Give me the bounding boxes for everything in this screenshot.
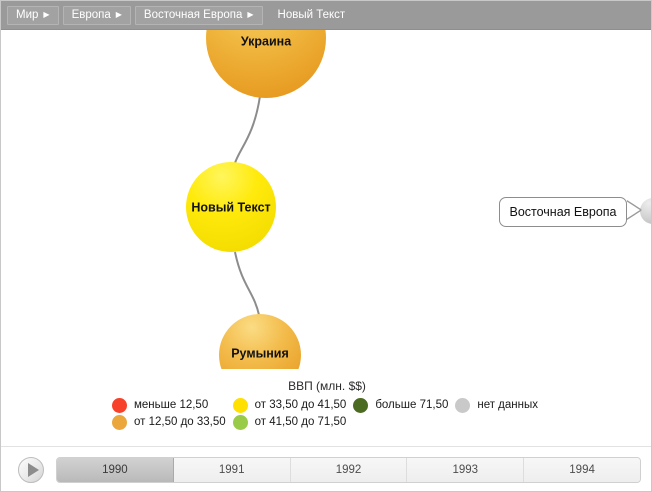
breadcrumb-item-evropa[interactable]: Европа ▶ <box>63 6 131 25</box>
play-button[interactable] <box>18 457 44 483</box>
legend-swatch-icon <box>455 398 470 413</box>
year-cell-1994[interactable]: 1994 <box>524 458 640 482</box>
callout-tail-icon <box>626 201 640 219</box>
legend-item-bolshe[interactable]: больше 71,50 <box>353 398 452 413</box>
bubble-node-rumyniya[interactable]: Румыния <box>219 314 301 369</box>
legend-item-net-dannyh[interactable]: нет данных <box>455 398 542 413</box>
legend-item-12-33[interactable]: от 12,50 до 33,50 <box>112 415 230 430</box>
bubble-label: Румыния <box>231 346 289 360</box>
year-cell-1992[interactable]: 1992 <box>291 458 408 482</box>
legend-item-label: от 33,50 до 41,50 <box>255 398 347 413</box>
callout-tooltip[interactable]: Восточная Европа <box>499 197 627 227</box>
legend-item-menshe[interactable]: меньше 12,50 <box>112 398 230 413</box>
legend-item-41-71[interactable]: от 41,50 до 71,50 <box>233 415 351 430</box>
breadcrumb-item-novyy-tekst[interactable]: Новый Текст <box>267 6 355 25</box>
chevron-right-icon: ▶ <box>247 11 253 19</box>
bubble-circle[interactable] <box>219 314 301 369</box>
legend-rows: меньше 12,50 от 33,50 до 41,50 больше 71… <box>1 398 652 430</box>
chevron-right-icon: ▶ <box>43 11 49 19</box>
legend-item-label: больше 71,50 <box>375 398 448 413</box>
bubble-node-novyy-tekst[interactable]: Новый Текст <box>186 162 276 252</box>
year-slider[interactable]: 1990 1991 1992 1993 1994 <box>56 457 641 483</box>
edge-ukraina-novyy-tekst <box>235 96 260 163</box>
year-cell-1991[interactable]: 1991 <box>174 458 291 482</box>
chevron-right-icon: ▶ <box>116 11 122 19</box>
legend-item-label: от 12,50 до 33,50 <box>134 415 226 430</box>
legend: ВВП (млн. $$) меньше 12,50 от 33,50 до 4… <box>1 379 652 441</box>
app-window: Мир ▶ Европа ▶ Восточная Европа ▶ Новый … <box>0 0 652 492</box>
bubble-circle[interactable] <box>640 198 652 224</box>
breadcrumb-item-label: Мир <box>16 7 38 24</box>
breadcrumb: Мир ▶ Европа ▶ Восточная Европа ▶ Новый … <box>1 1 652 30</box>
breadcrumb-item-label: Новый Текст <box>278 7 346 24</box>
bubble-label: Новый Текст <box>191 200 270 214</box>
callout-label: Восточная Европа <box>509 205 616 219</box>
breadcrumb-item-label: Восточная Европа <box>144 7 242 24</box>
edge-novyy-tekst-rumyniya <box>235 252 259 315</box>
legend-swatch-icon <box>112 415 127 430</box>
year-cell-1990[interactable]: 1990 <box>57 458 174 482</box>
year-cell-1993[interactable]: 1993 <box>407 458 524 482</box>
legend-grid: меньше 12,50 от 33,50 до 41,50 больше 71… <box>112 398 542 430</box>
breadcrumb-item-label: Европа <box>72 7 111 24</box>
legend-title: ВВП (млн. $$) <box>1 379 652 393</box>
legend-swatch-icon <box>233 398 248 413</box>
legend-swatch-icon <box>233 415 248 430</box>
breadcrumb-item-mir[interactable]: Мир ▶ <box>7 6 59 25</box>
bubble-node-ukraina[interactable]: Украина <box>206 30 326 98</box>
bubble-node-no-data[interactable] <box>640 198 652 224</box>
legend-item-label: нет данных <box>477 398 538 413</box>
timeline-bar: 1990 1991 1992 1993 1994 <box>1 446 652 492</box>
legend-item-33-41[interactable]: от 33,50 до 41,50 <box>233 398 351 413</box>
legend-swatch-icon <box>112 398 127 413</box>
bubble-label: Украина <box>241 34 292 48</box>
breadcrumb-item-vostochnaya-evropa[interactable]: Восточная Европа ▶ <box>135 6 263 25</box>
play-icon <box>28 463 39 477</box>
legend-item-label: меньше 12,50 <box>134 398 208 413</box>
legend-item-label: от 41,50 до 71,50 <box>255 415 347 430</box>
legend-swatch-icon <box>353 398 368 413</box>
